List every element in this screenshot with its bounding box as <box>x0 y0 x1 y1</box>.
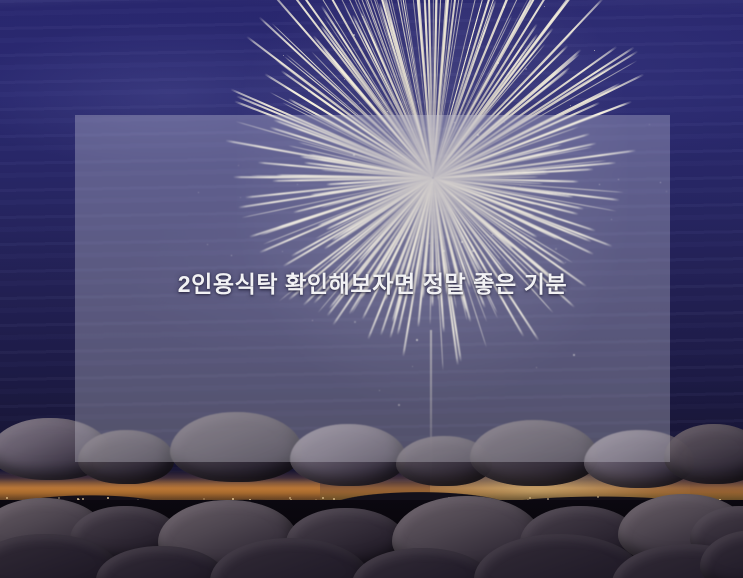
firework-spark <box>594 50 595 51</box>
city-light-dot <box>322 497 324 499</box>
firework-spark <box>544 6 545 7</box>
city-light-dot <box>597 496 599 498</box>
city-light-dot <box>107 497 109 499</box>
city-light-dot <box>529 497 531 499</box>
firework-spark <box>283 55 284 56</box>
firework-spark <box>525 68 527 70</box>
firework-spark <box>353 34 355 36</box>
firework-spark <box>454 0 455 1</box>
image-canvas: 2인용식탁 확인해보자면 정말 좋은 기분 <box>0 0 743 578</box>
caption-text: 2인용식탁 확인해보자면 정말 좋은 기분 <box>75 268 670 300</box>
city-light-dot <box>6 497 8 499</box>
firework-spark <box>503 6 505 8</box>
firework-spark <box>453 102 454 103</box>
